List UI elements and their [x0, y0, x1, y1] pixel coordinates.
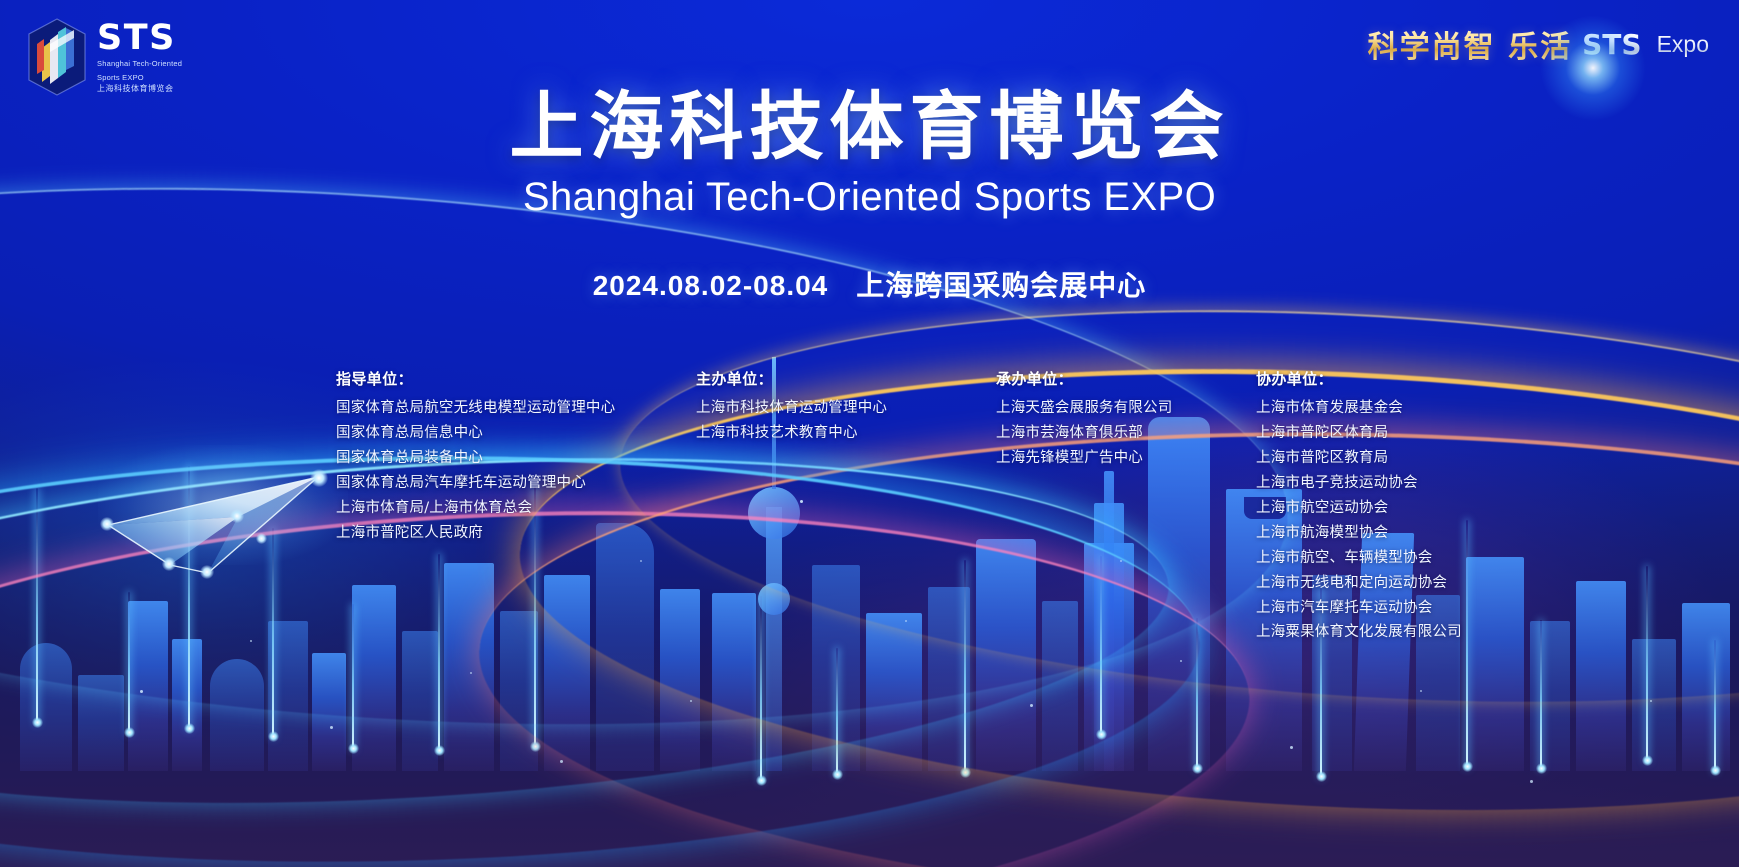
organizer-columns: 指导单位： 国家体育总局航空无线电模型运动管理中心 国家体育总局信息中心 国家体… [0, 368, 1739, 645]
organizer-column-guidance: 指导单位： 国家体育总局航空无线电模型运动管理中心 国家体育总局信息中心 国家体… [336, 368, 696, 546]
slogan-chinese: 科学尚智 乐活 [1368, 22, 1572, 66]
organizer-heading: 主办单位： [696, 368, 996, 389]
organizer-item: 上海天盛会展服务有限公司 [996, 396, 1256, 421]
particle [1530, 780, 1533, 783]
logo-en-line2: Sports EXPO [97, 73, 182, 83]
organizer-heading: 协办单位： [1256, 368, 1556, 389]
event-date: 2024.08.02-08.04 [593, 270, 829, 301]
organizer-column-host: 主办单位： 上海市科技体育运动管理中心 上海市科技艺术教育中心 [696, 368, 996, 446]
logo-wordmark: STS [97, 21, 182, 56]
organizer-item: 上海市普陀区人民政府 [336, 521, 696, 546]
logo-en-line1: Shanghai Tech-Oriented [97, 59, 182, 69]
particle [690, 700, 692, 702]
particle [560, 760, 563, 763]
page-title-en: Shanghai Tech-Oriented Sports EXPO [0, 175, 1739, 220]
slogan-sts: STS [1582, 28, 1641, 61]
organizer-item: 上海市体育局/上海市体育总会 [336, 496, 696, 521]
event-venue: 上海跨国采购会展中心 [856, 269, 1146, 302]
organizer-heading: 指导单位： [336, 368, 696, 389]
organizer-item: 上海市普陀区体育局 [1256, 421, 1556, 446]
title-block: 上海科技体育博览会 Shanghai Tech-Oriented Sports … [0, 86, 1739, 304]
organizer-item: 国家体育总局装备中心 [336, 446, 696, 471]
organizer-item: 国家体育总局汽车摩托车运动管理中心 [336, 471, 696, 496]
organizer-item: 上海市普陀区教育局 [1256, 446, 1556, 471]
particle [1290, 746, 1293, 749]
organizer-item: 国家体育总局航空无线电模型运动管理中心 [336, 396, 696, 421]
particle [330, 726, 333, 729]
organizer-item: 上海粟果体育文化发展有限公司 [1256, 620, 1556, 645]
page-title-cn: 上海科技体育博览会 [0, 86, 1739, 169]
sts-logo-mark [28, 18, 86, 96]
organizer-heading: 承办单位： [996, 368, 1256, 389]
organizer-item: 上海市航海模型协会 [1256, 521, 1556, 546]
organizer-item: 上海先锋模型广告中心 [996, 446, 1256, 471]
organizer-item: 上海市电子竞技运动协会 [1256, 471, 1556, 496]
slogan-expo: Expo [1657, 31, 1709, 58]
particle [1180, 660, 1182, 662]
organizer-column-coorganizer: 协办单位： 上海市体育发展基金会 上海市普陀区体育局 上海市普陀区教育局 上海市… [1256, 368, 1556, 645]
particle [140, 690, 143, 693]
particle [1650, 700, 1652, 702]
expo-banner: STS Shanghai Tech-Oriented Sports EXPO 上… [0, 0, 1739, 867]
date-venue-line: 2024.08.02-08.04上海跨国采购会展中心 [0, 264, 1739, 304]
organizer-column-undertaker: 承办单位： 上海天盛会展服务有限公司 上海市芸海体育俱乐部 上海先锋模型广告中心 [996, 368, 1256, 471]
organizer-item: 上海市科技艺术教育中心 [696, 421, 996, 446]
organizer-item: 上海市体育发展基金会 [1256, 396, 1556, 421]
organizer-item: 上海市无线电和定向运动协会 [1256, 571, 1556, 596]
organizer-item: 上海市汽车摩托车运动协会 [1256, 596, 1556, 621]
organizer-item: 上海市航空、车辆模型协会 [1256, 546, 1556, 571]
particle [1420, 690, 1422, 692]
slogan-lockup: 科学尚智 乐活 STS Expo [1368, 22, 1709, 66]
particle [470, 672, 472, 674]
particle [1030, 704, 1033, 707]
organizer-item: 上海市航空运动协会 [1256, 496, 1556, 521]
organizer-item: 上海市科技体育运动管理中心 [696, 396, 996, 421]
sts-logo[interactable]: STS Shanghai Tech-Oriented Sports EXPO 上… [28, 18, 182, 96]
organizer-item: 上海市芸海体育俱乐部 [996, 421, 1256, 446]
organizer-item: 国家体育总局信息中心 [336, 421, 696, 446]
